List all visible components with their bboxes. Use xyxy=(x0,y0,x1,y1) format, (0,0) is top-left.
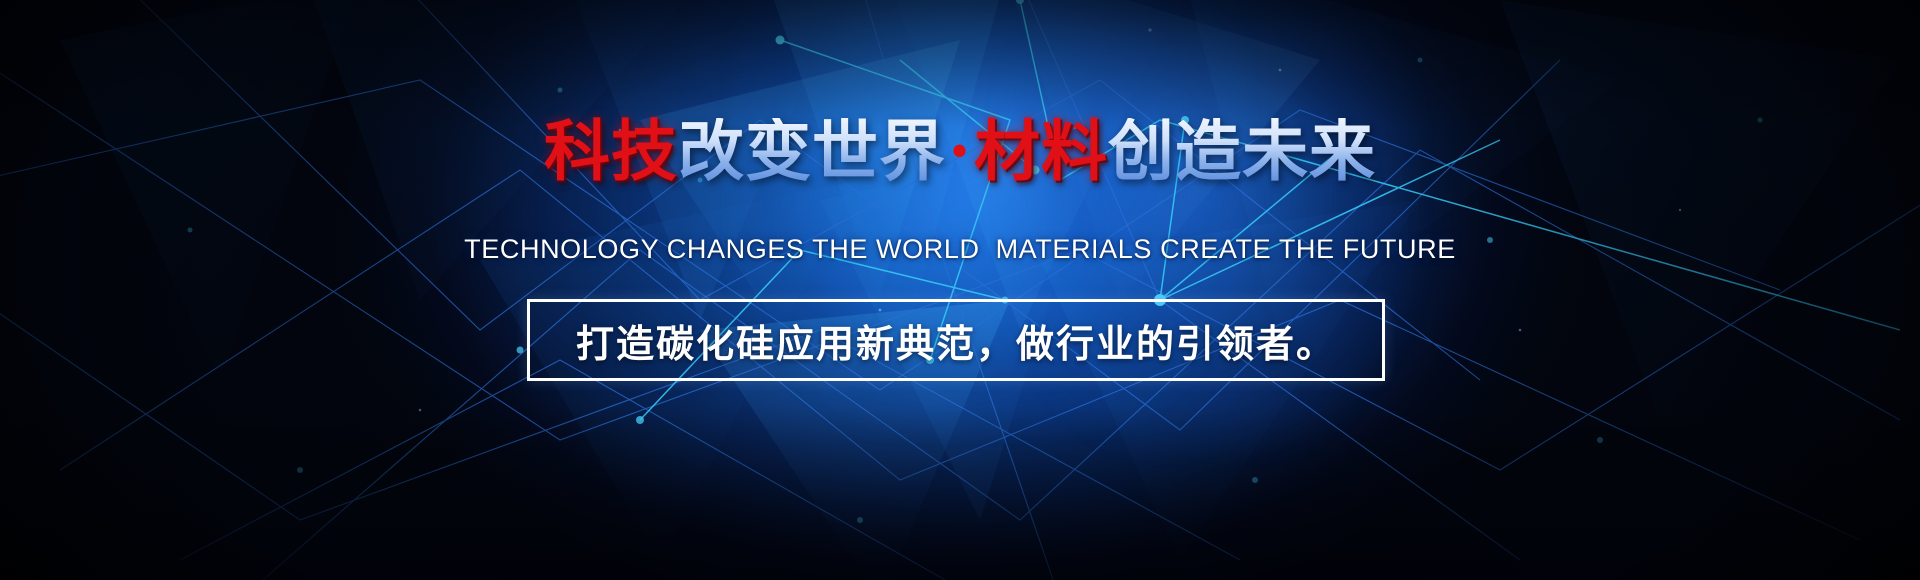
subtitle: TECHNOLOGY CHANGES THE WORLDMATERIALS CR… xyxy=(0,234,1920,265)
headline-part-4: 创造未来 xyxy=(1108,118,1376,184)
subtitle-left: TECHNOLOGY CHANGES THE WORLD xyxy=(464,234,979,264)
banner-content: 科技改变世界·材料创造未来 TECHNOLOGY CHANGES THE WOR… xyxy=(0,0,1920,580)
subtitle-right: MATERIALS CREATE THE FUTURE xyxy=(996,234,1456,264)
headline-part-1: 科技 xyxy=(544,118,678,184)
headline-separator-dot: · xyxy=(946,118,974,184)
hero-banner: 科技改变世界·材料创造未来 TECHNOLOGY CHANGES THE WOR… xyxy=(0,0,1920,580)
headline: 科技改变世界·材料创造未来 xyxy=(0,118,1920,184)
headline-part-3: 材料 xyxy=(974,118,1108,184)
slogan-box: 打造碳化硅应用新典范，做行业的引领者。 xyxy=(527,299,1385,381)
slogan-text: 打造碳化硅应用新典范，做行业的引领者。 xyxy=(530,302,1382,378)
headline-part-2: 改变世界 xyxy=(678,118,946,184)
